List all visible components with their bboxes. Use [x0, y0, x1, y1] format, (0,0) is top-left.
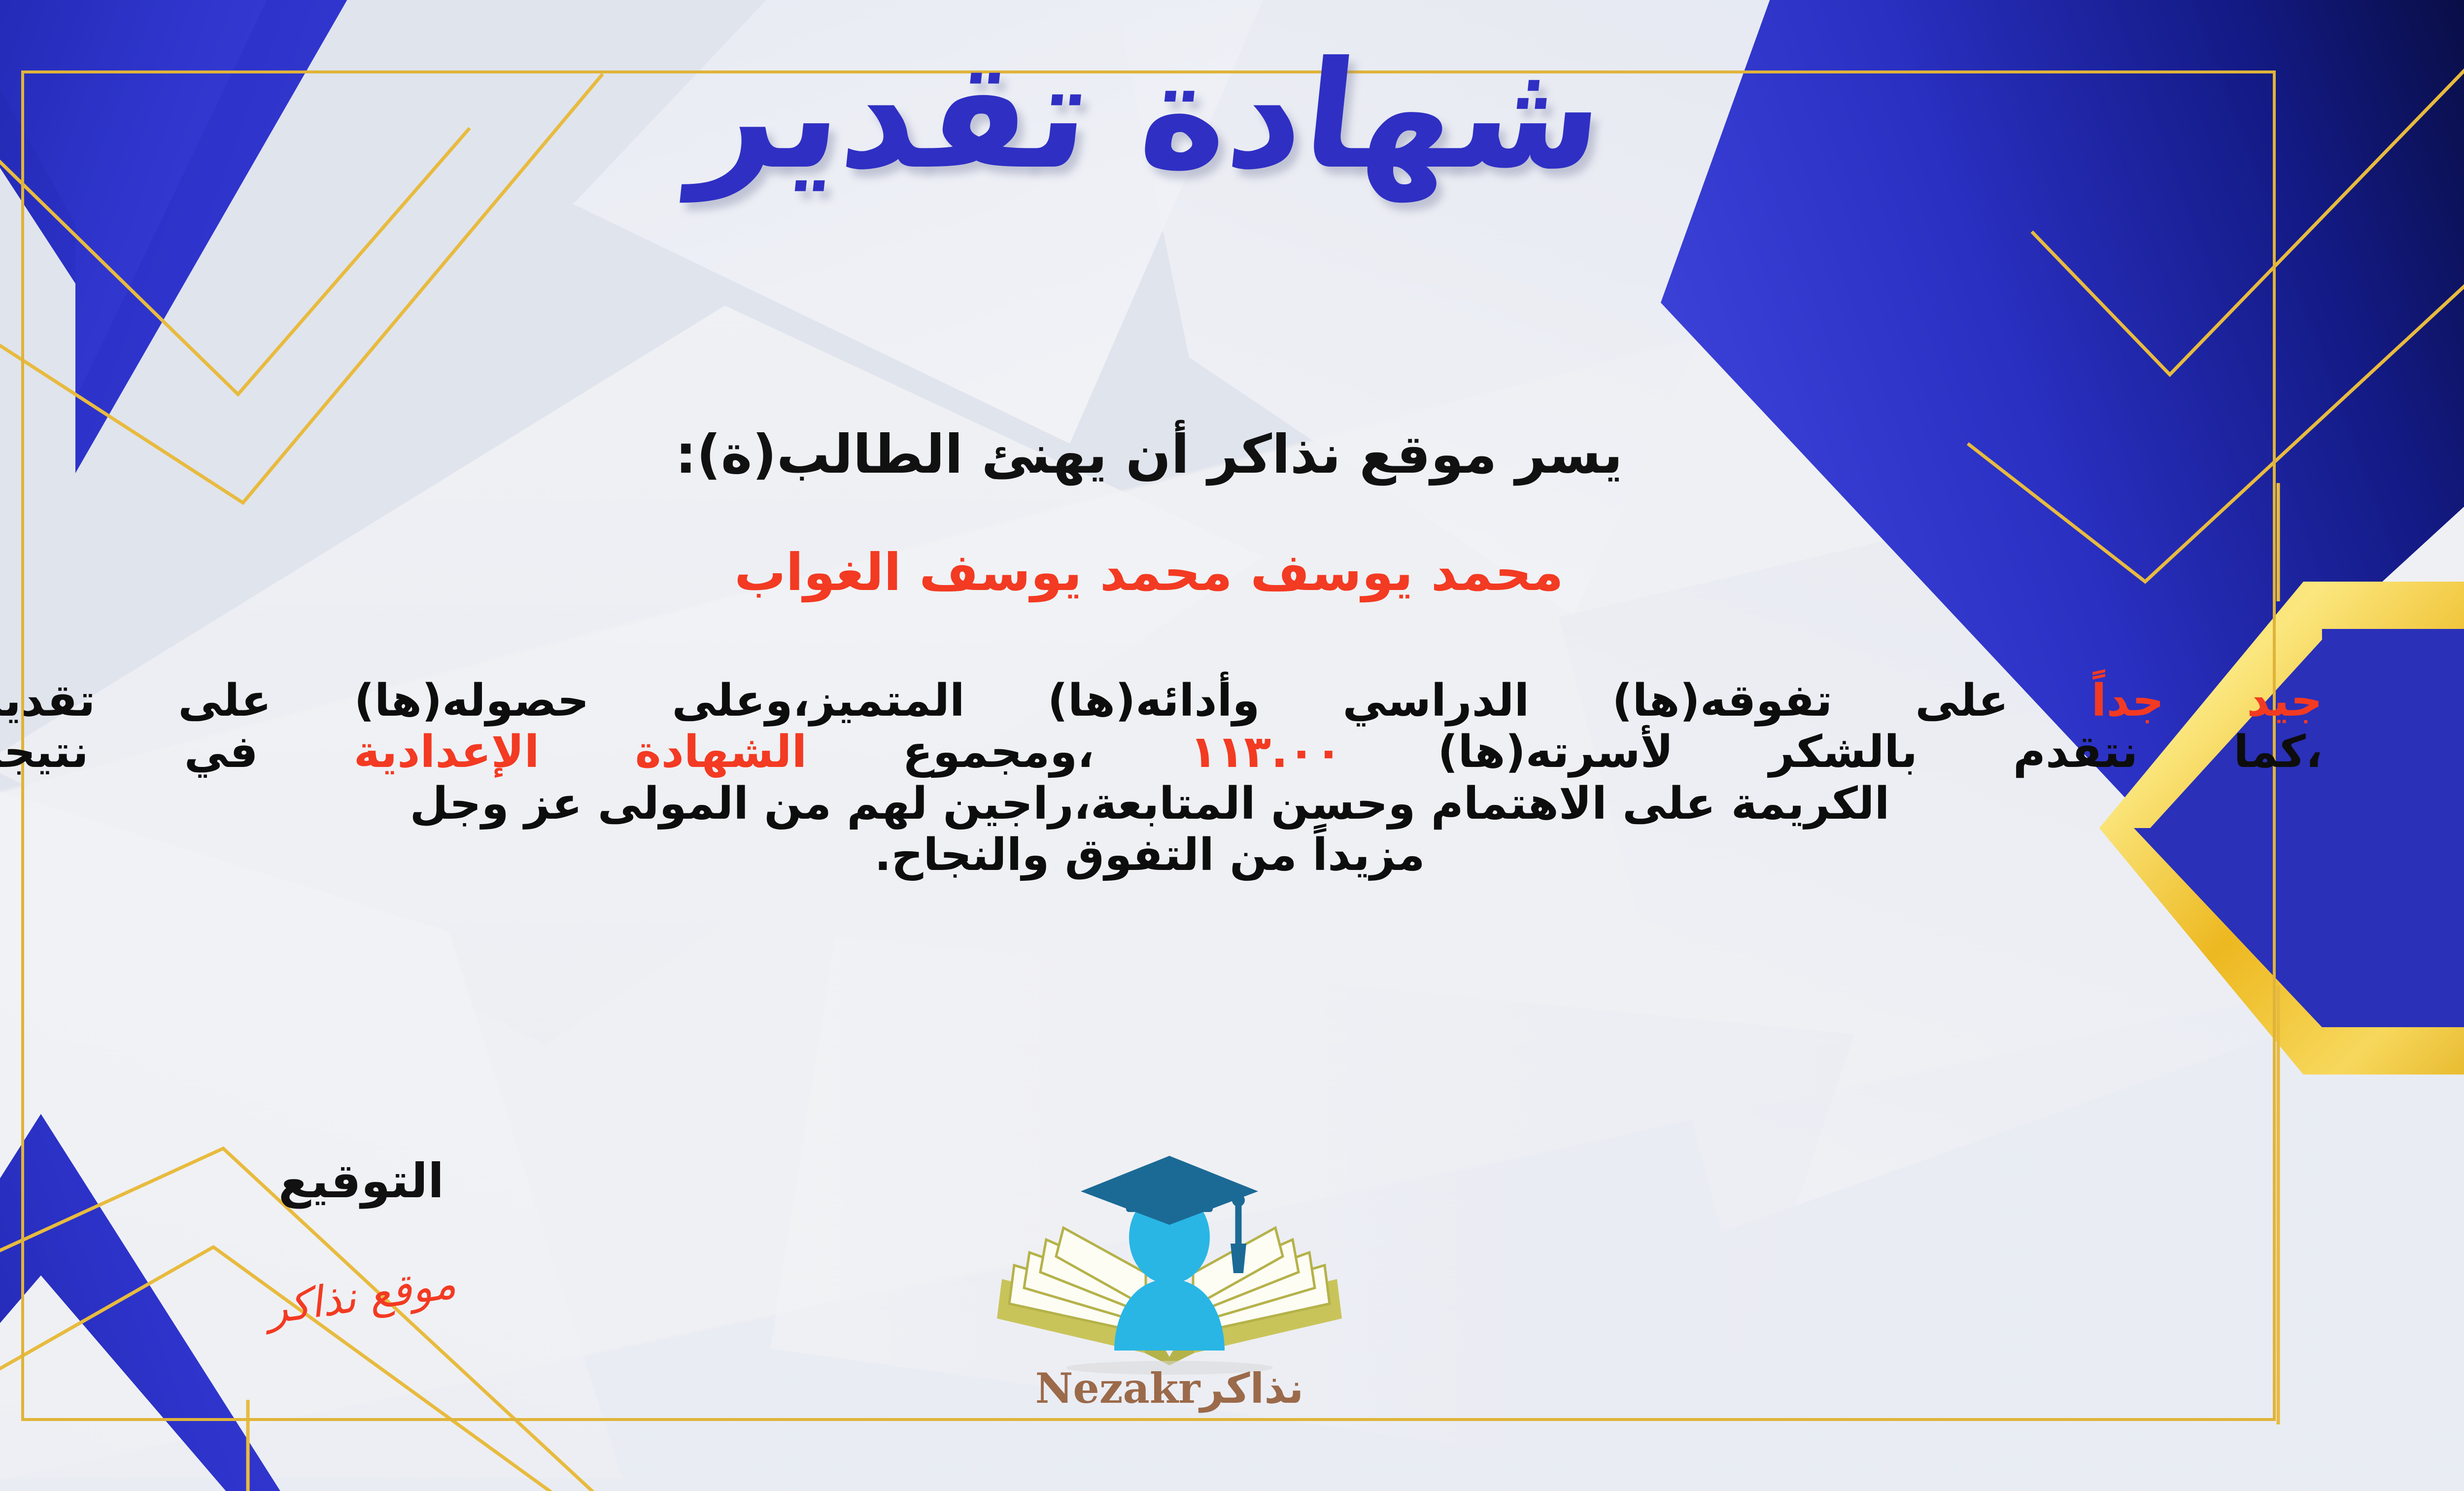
- greeting-line: يسر موقع نذاكر أن يهنئ الطالب(ة):: [0, 424, 2464, 485]
- grade-value: جيد جداً: [2091, 675, 2323, 727]
- logo-wordmark: Nezakrنذاكر: [982, 1364, 1357, 1413]
- certificate-body: جيد جداً على تفوقه(ها) الدراسي وأدائه(ها…: [0, 675, 2323, 881]
- certificate-title: شهادة تقدير: [0, 30, 2464, 202]
- certificate-content: شهادة تقدير يسر موقع نذاكر أن يهنئ الطال…: [0, 0, 2464, 1491]
- mortarboard: [1081, 1156, 1258, 1225]
- logo-name-arabic: نذاكر: [1200, 1364, 1303, 1413]
- exam-name-value: الشهادة الإعدادية: [354, 726, 807, 778]
- total-score-value: ١١٣.٠٠: [1190, 726, 1342, 778]
- student-name: محمد يوسف محمد يوسف الغواب: [0, 542, 2464, 602]
- body-line-2-tail: ،كما نتقدم بالشكر لأسرته(ها): [1437, 726, 2323, 778]
- signature-mark: موقع نذاكر: [206, 1250, 516, 1342]
- body-line-1-text: على تفوقه(ها) الدراسي وأدائه(ها) المتميز…: [0, 675, 2009, 727]
- certificate-page: شهادة تقدير يسر موقع نذاكر أن يهنئ الطال…: [0, 0, 2464, 1491]
- tassel-knob: [1232, 1194, 1245, 1207]
- body-line-2-middle: ،ومجموع: [902, 726, 1094, 778]
- body-line-2: ،كما نتقدم بالشكر لأسرته(ها) ١١٣.٠٠ ،ومج…: [0, 727, 2323, 778]
- logo-name-latin: Nezakr: [1035, 1364, 1200, 1413]
- body-line-2-head: في نتيجة: [0, 726, 258, 778]
- body-line-4: مزيداً من التفوق والنجاح.: [0, 830, 2323, 881]
- body-line-1: جيد جداً على تفوقه(ها) الدراسي وأدائه(ها…: [0, 675, 2323, 727]
- signature-label: التوقيع: [208, 1153, 514, 1209]
- nezakr-logo: Nezakrنذاكر: [982, 1134, 1357, 1410]
- body-line-3: الكريمة على الاهتمام وحسن المتابعة،راجين…: [0, 778, 2323, 830]
